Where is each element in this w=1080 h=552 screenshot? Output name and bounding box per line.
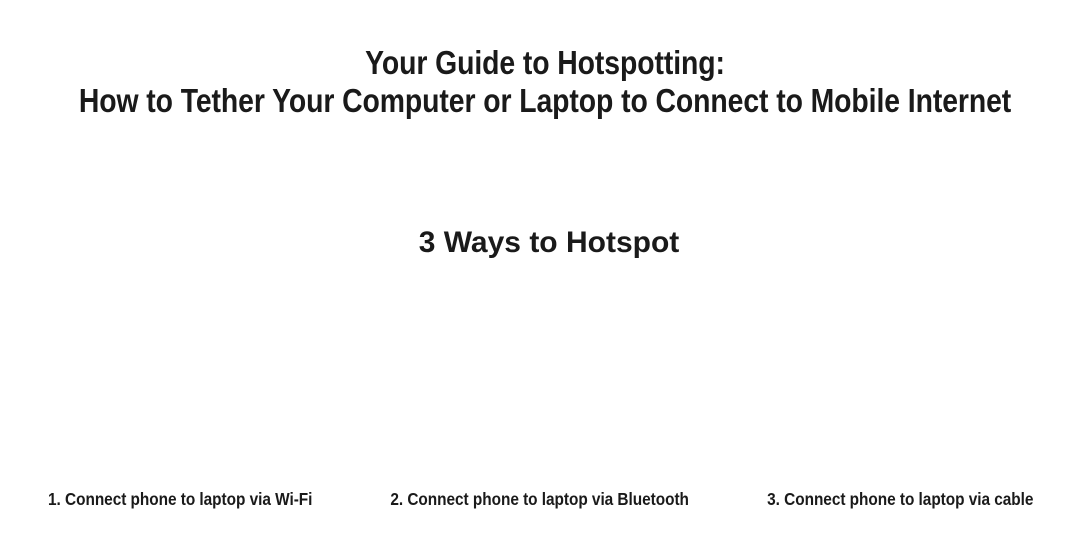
illustration-cell-bluetooth bbox=[360, 278, 720, 478]
illustration-row bbox=[0, 278, 1080, 478]
section-subheading: 3 Ways to Hotspot bbox=[0, 224, 1080, 262]
caption-label-cable: 3. Connect phone to laptop via cable bbox=[767, 488, 1033, 510]
caption-cell-bluetooth: 2. Connect phone to laptop via Bluetooth bbox=[360, 488, 720, 510]
illustration-image-cable bbox=[720, 278, 1080, 478]
illustration-image-wifi bbox=[0, 278, 360, 478]
caption-label-bluetooth: 2. Connect phone to laptop via Bluetooth bbox=[391, 488, 690, 510]
page-title: Your Guide to Hotspotting: How to Tether… bbox=[0, 44, 1080, 120]
caption-row: 1. Connect phone to laptop via Wi-Fi 2. … bbox=[0, 488, 1080, 510]
illustration-image-bluetooth bbox=[360, 278, 720, 478]
caption-cell-cable: 3. Connect phone to laptop via cable bbox=[720, 488, 1080, 510]
caption-cell-wifi: 1. Connect phone to laptop via Wi-Fi bbox=[0, 488, 360, 510]
infographic-page: Your Guide to Hotspotting: How to Tether… bbox=[0, 0, 1080, 552]
caption-label-wifi: 1. Connect phone to laptop via Wi-Fi bbox=[48, 488, 312, 510]
page-title-line-2: How to Tether Your Computer or Laptop to… bbox=[76, 82, 1013, 120]
illustration-cell-cable bbox=[720, 278, 1080, 478]
illustration-cell-wifi bbox=[0, 278, 360, 478]
page-title-line-1: Your Guide to Hotspotting: bbox=[76, 44, 1013, 82]
